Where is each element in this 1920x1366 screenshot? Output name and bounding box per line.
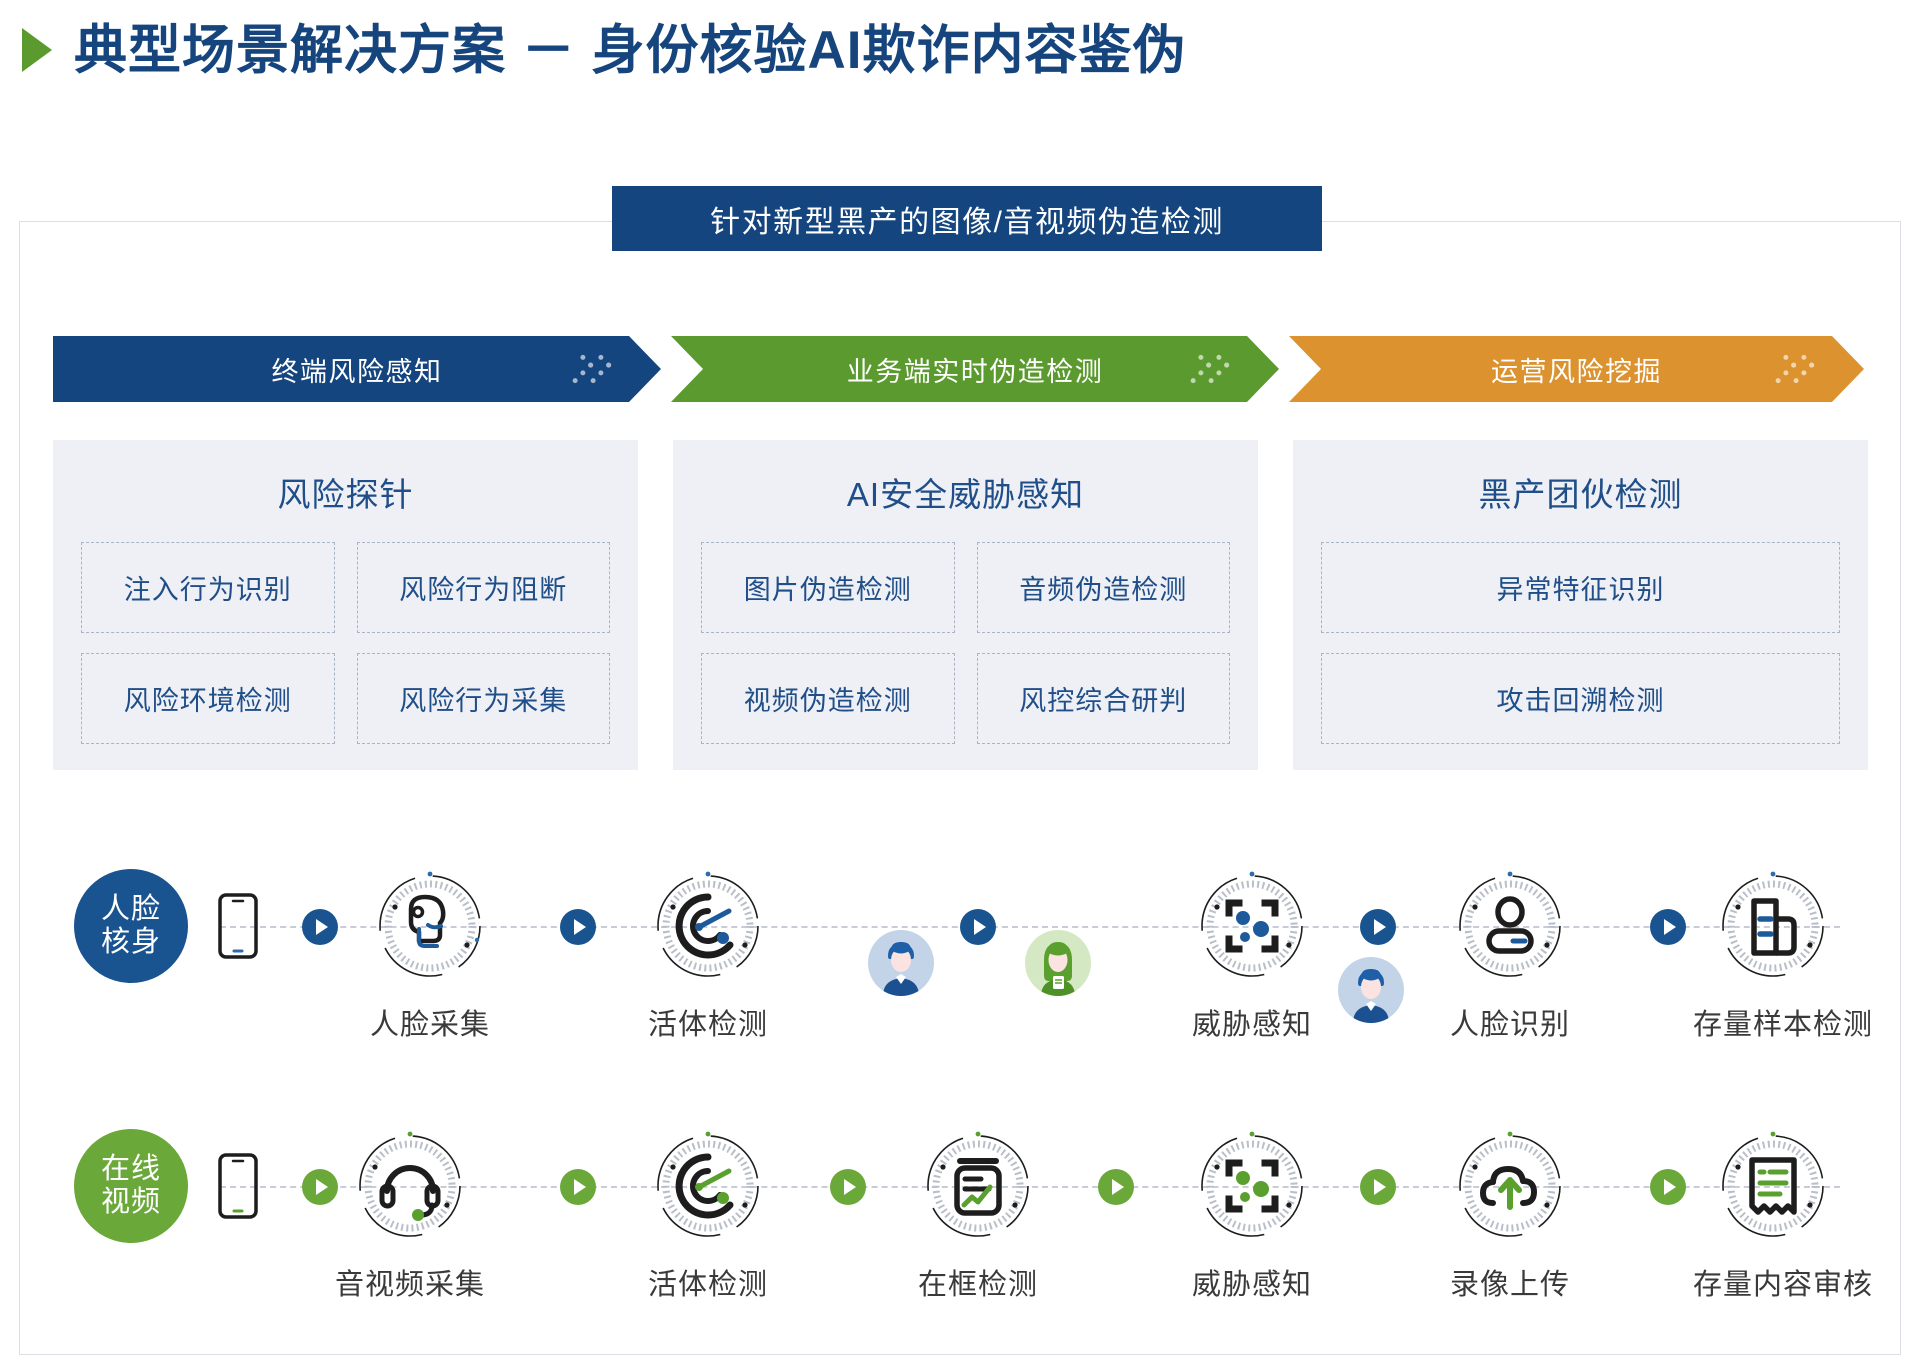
- capability-chip[interactable]: 音频伪造检测: [977, 542, 1231, 633]
- flow-badge-face-verification: 人脸 核身: [74, 869, 188, 983]
- double-chevron-right-icon: [571, 356, 605, 383]
- panel-title: 风险探针: [81, 468, 610, 516]
- smartphone-icon: [218, 893, 258, 959]
- flow-node-face-recognition[interactable]: 人脸识别: [1430, 867, 1590, 1043]
- flow-arrow-icon: [830, 1169, 866, 1205]
- flow-node-label: 音视频采集: [330, 1261, 490, 1303]
- flow-node-av-capture[interactable]: 音视频采集: [330, 1127, 490, 1303]
- flow-node-stock-content-review[interactable]: 存量内容审核: [1693, 1127, 1853, 1303]
- flow-node-label: 人脸采集: [350, 1001, 510, 1043]
- stage-operations-risk-mining[interactable]: 运营风险挖掘: [1289, 336, 1864, 402]
- capability-chip[interactable]: 注入行为识别: [81, 542, 335, 633]
- flow-node-threat-awareness[interactable]: 威胁感知: [1172, 1127, 1332, 1303]
- person-id-icon: [1451, 867, 1569, 985]
- flow-node-label: 活体检测: [628, 1001, 788, 1043]
- capability-chip[interactable]: 攻击回溯检测: [1321, 653, 1840, 744]
- avatar-male-verified: ✓: [868, 930, 934, 996]
- flow-arrow-icon: [1098, 1169, 1134, 1205]
- flow-node-label: 人脸识别: [1430, 1001, 1590, 1043]
- flow-node-threat-awareness[interactable]: 威胁感知: [1172, 867, 1332, 1043]
- capability-chip[interactable]: 视频伪造检测: [701, 653, 955, 744]
- badge-line-1: 人脸: [101, 893, 161, 926]
- avatar-female-rejected: ✗: [1025, 930, 1091, 996]
- target-scan-icon: [1193, 867, 1311, 985]
- flow-node-label: 活体检测: [628, 1261, 788, 1303]
- page-header: 典型场景解决方案 － 身份核验AI欺诈内容鉴伪: [0, 0, 1920, 86]
- panel-blackmarket-gang-detection: 黑产团伙检测 异常特征识别 攻击回溯检测: [1293, 440, 1868, 770]
- diagram-board: 终端风险感知 业务端实时伪造检测 运营风险挖掘 风险探针 注入行为识别 风险行为…: [19, 221, 1901, 1355]
- stage-arrow-bar: 终端风险感知 业务端实时伪造检测 运营风险挖掘: [53, 336, 1868, 402]
- flow-arrow-icon: [1360, 1169, 1396, 1205]
- document-stack-icon: [1714, 867, 1832, 985]
- cloud-upload-icon: [1451, 1127, 1569, 1245]
- stage-business-realtime-detection[interactable]: 业务端实时伪造检测: [671, 336, 1279, 402]
- stage-terminal-risk[interactable]: 终端风险感知: [53, 336, 661, 402]
- capability-panels: 风险探针 注入行为识别 风险行为阻断 风险环境检测 风险行为采集 AI安全威胁感…: [53, 440, 1868, 770]
- face-scan-icon: [371, 867, 489, 985]
- report-chart-icon: [919, 1127, 1037, 1245]
- panel-chip-grid: 图片伪造检测 音频伪造检测 视频伪造检测 风控综合研判: [701, 542, 1230, 744]
- smartphone-icon: [218, 1153, 258, 1219]
- badge-line-2: 视频: [101, 1186, 161, 1219]
- stage-label: 终端风险感知: [272, 350, 443, 389]
- ribbon-text: 针对新型黑产的图像/音视频伪造检测: [710, 197, 1224, 241]
- flow-node-label: 在框检测: [898, 1261, 1058, 1303]
- flow-node-liveness-detection[interactable]: 活体检测: [628, 1127, 788, 1303]
- flow-node-label: 录像上传: [1430, 1261, 1590, 1303]
- flow-node-label: 威胁感知: [1172, 1261, 1332, 1303]
- headset-icon: [351, 1127, 469, 1245]
- stage-label: 运营风险挖掘: [1491, 350, 1662, 389]
- flow-arrow-icon: [1650, 909, 1686, 945]
- badge-line-2: 核身: [101, 926, 161, 959]
- double-chevron-right-icon: [1774, 356, 1808, 383]
- capability-chip[interactable]: 风险行为阻断: [357, 542, 611, 633]
- flow-node-recording-upload[interactable]: 录像上传: [1430, 1127, 1590, 1303]
- solution-ribbon-banner: 针对新型黑产的图像/音视频伪造检测: [612, 186, 1322, 251]
- flow-arrow-icon: [960, 909, 996, 945]
- capability-chip[interactable]: 图片伪造检测: [701, 542, 955, 633]
- capability-chip[interactable]: 风控综合研判: [977, 653, 1231, 744]
- panel-chip-grid: 注入行为识别 风险行为阻断 风险环境检测 风险行为采集: [81, 542, 610, 744]
- flow-node-in-frame-detection[interactable]: 在框检测: [898, 1127, 1058, 1303]
- panel-title: AI安全威胁感知: [701, 468, 1230, 516]
- flow-node-label: 存量样本检测: [1693, 1001, 1853, 1043]
- flow-badge-online-video: 在线 视频: [74, 1129, 188, 1243]
- flow-arrow-icon: [1360, 909, 1396, 945]
- avatar-male-match: [1338, 957, 1404, 1023]
- gauge-icon: [649, 1127, 767, 1245]
- badge-line-1: 在线: [101, 1153, 161, 1186]
- panel-ai-threat-awareness: AI安全威胁感知 图片伪造检测 音频伪造检测 视频伪造检测 风控综合研判: [673, 440, 1258, 770]
- capability-chip[interactable]: 异常特征识别: [1321, 542, 1840, 633]
- capability-chip[interactable]: 风险行为采集: [357, 653, 611, 744]
- flow-row-online-video: 在线 视频: [20, 1077, 1900, 1307]
- panel-chip-grid: 异常特征识别 攻击回溯检测: [1321, 542, 1840, 744]
- target-scan-icon: [1193, 1127, 1311, 1245]
- stage-label: 业务端实时伪造检测: [847, 350, 1104, 389]
- flow-row-face-verification: 人脸 核身: [20, 817, 1900, 1047]
- panel-title: 黑产团伙检测: [1321, 468, 1840, 516]
- flow-arrow-icon: [1650, 1169, 1686, 1205]
- panel-risk-probe: 风险探针 注入行为识别 风险行为阻断 风险环境检测 风险行为采集: [53, 440, 638, 770]
- flow-node-label: 存量内容审核: [1693, 1261, 1853, 1303]
- triangle-right-icon: [22, 28, 52, 72]
- flow-node-liveness-detection[interactable]: 活体检测: [628, 867, 788, 1043]
- page-title: 典型场景解决方案 － 身份核验AI欺诈内容鉴伪: [74, 24, 1186, 77]
- flow-node-label: 威胁感知: [1172, 1001, 1332, 1043]
- flow-node-stock-sample-detection[interactable]: 存量样本检测: [1693, 867, 1853, 1043]
- flow-arrow-icon: [302, 909, 338, 945]
- flow-arrow-icon: [560, 909, 596, 945]
- flow-node-face-capture[interactable]: 人脸采集: [350, 867, 510, 1043]
- receipt-icon: [1714, 1127, 1832, 1245]
- double-chevron-right-icon: [1189, 356, 1223, 383]
- flow-arrow-icon: [560, 1169, 596, 1205]
- gauge-icon: [649, 867, 767, 985]
- capability-chip[interactable]: 风险环境检测: [81, 653, 335, 744]
